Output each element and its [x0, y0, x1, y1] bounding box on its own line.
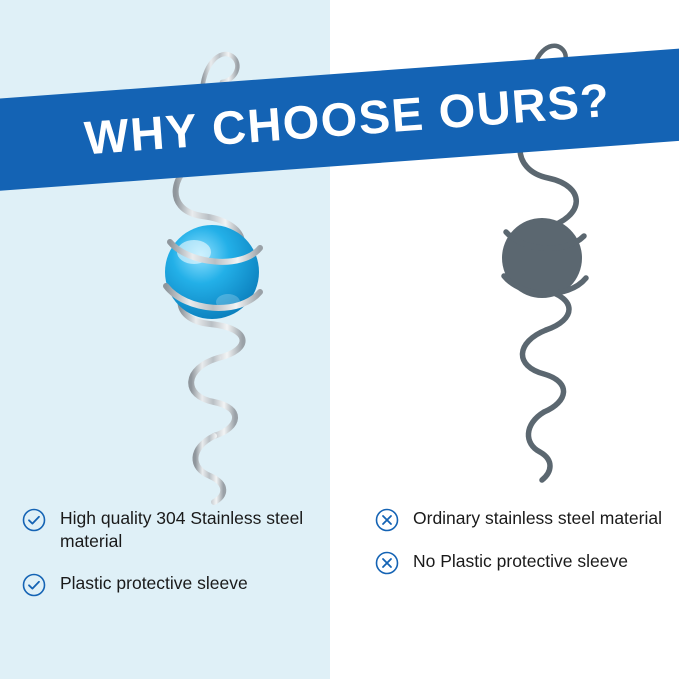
list-item: Plastic protective sleeve — [22, 572, 322, 597]
product-comparison-image: WHY CHOOSE OURS? High quality 304 Stainl… — [0, 0, 679, 679]
list-item-label: Plastic protective sleeve — [60, 572, 248, 595]
list-item: No Plastic protective sleeve — [375, 550, 675, 575]
left-spiral-body — [176, 154, 243, 502]
left-bullet-column: High quality 304 Stainless steel materia… — [22, 507, 322, 615]
right-bullet-column: Ordinary stainless steel material No Pla… — [375, 507, 675, 593]
list-item-label: Ordinary stainless steel material — [413, 507, 662, 530]
comparison-bullets: High quality 304 Stainless steel materia… — [0, 507, 679, 657]
check-circle-icon — [22, 573, 46, 597]
cross-circle-icon — [375, 551, 399, 575]
cross-circle-icon — [375, 508, 399, 532]
list-item: Ordinary stainless steel material — [375, 507, 675, 532]
list-item-label: High quality 304 Stainless steel materia… — [60, 507, 322, 554]
list-item-label: No Plastic protective sleeve — [413, 550, 628, 573]
list-item: High quality 304 Stainless steel materia… — [22, 507, 322, 554]
check-circle-icon — [22, 508, 46, 532]
